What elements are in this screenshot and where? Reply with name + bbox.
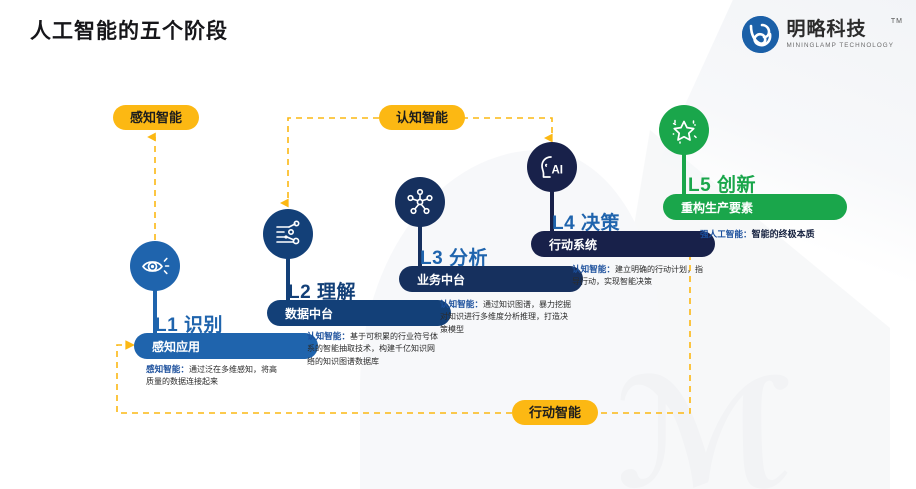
stage-l5-desc-text: 智能的终极本质 [752,229,815,239]
stage-l3-chip[interactable]: 业务中台 [399,266,583,292]
stage-l3-desc: 认知智能：通过知识图谱，暴力挖掘对知识进行多维度分析推理，打造决策模型 [440,298,573,336]
ai-head-icon[interactable]: AI [527,142,577,192]
stage-l3-desc-label: 认知智能： [440,299,483,309]
stage-l1-desc: 感知智能：通过泛在多维感知，将高质量的数据连接起来 [146,363,279,389]
stage-l4-desc-label: 认知智能： [572,264,615,274]
data-nodes-icon[interactable] [263,209,313,259]
stage-l5-level: L5 创新 [688,170,756,197]
slide-canvas: ℳ 人工智能的五个阶段 明略科技TM MININGLAMP TECHNOLOGY [0,0,916,489]
network-graph-icon[interactable] [395,177,445,227]
tag-cognitive-intelligence[interactable]: 认知智能 [379,105,465,130]
stage-l5-desc: 强人工智能：智能的终极本质 [700,228,850,242]
stage-l4-chip[interactable]: 行动系统 [531,231,715,257]
stage-l4-desc: 认知智能：建立明确的行动计划，指导行动，实现智能决策 [572,263,705,289]
stage-l5-chip[interactable]: 重构生产要素 [663,194,847,220]
stage-l2-desc-label: 认知智能： [307,331,350,341]
stage-l2-chip[interactable]: 数据中台 [267,300,451,326]
eye-icon[interactable] [130,241,180,291]
star-sparkle-icon[interactable] [659,105,709,155]
stage-l5-desc-label: 强人工智能： [700,229,752,239]
stage-l1-desc-label: 感知智能： [146,364,189,374]
stage-l2-desc: 认知智能：基于可积累的行业符号体系的智能抽取技术，构建千亿知识网络的知识图谱数据… [307,330,440,368]
stage-l1-chip[interactable]: 感知应用 [134,333,318,359]
stem-l5 [682,153,686,200]
svg-text:AI: AI [552,165,564,177]
tag-action-intelligence[interactable]: 行动智能 [512,400,598,425]
tag-perception-intelligence[interactable]: 感知智能 [113,105,199,130]
